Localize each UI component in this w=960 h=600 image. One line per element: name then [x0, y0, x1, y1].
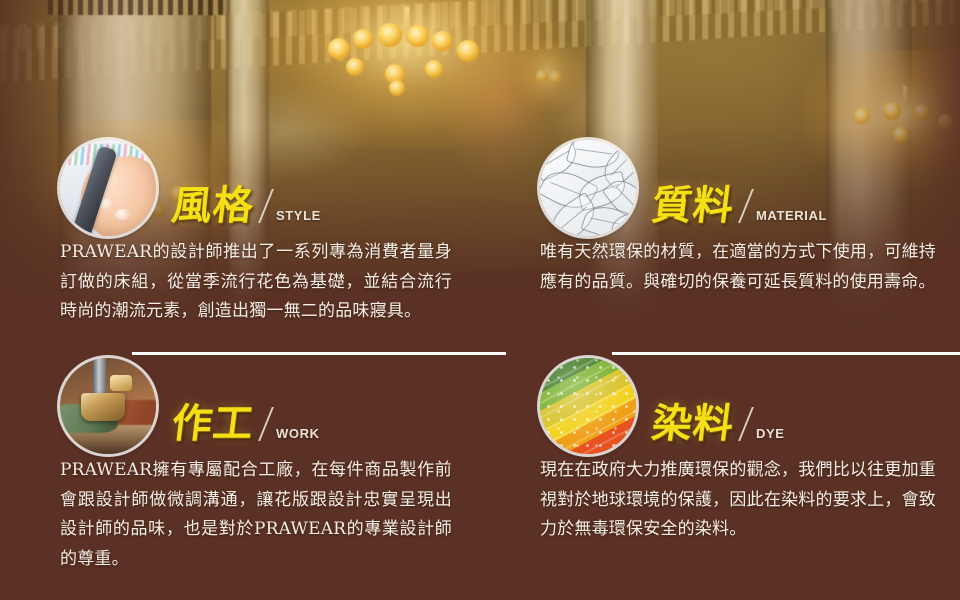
title-slash-divider	[738, 407, 754, 441]
feature-card-dye: 染料 DYE 現在在政府大力推廣環保的觀念，我們比以往更加重視對於地球環境的保護…	[540, 358, 960, 600]
feature-divider	[132, 352, 506, 355]
feature-header: 質料 MATERIAL	[540, 140, 960, 232]
feature-title-en: MATERIAL	[756, 208, 827, 226]
feature-title-lockup: 作工 WORK	[172, 404, 320, 444]
color-dye-stripes-icon[interactable]	[540, 358, 636, 454]
feature-card-material: 質料 MATERIAL 唯有天然環保的材質，在適當的方式下使用，可維持應有的品質…	[540, 140, 960, 358]
feature-title-lockup: 染料 DYE	[652, 404, 785, 444]
sewing-machine-icon[interactable]	[60, 358, 156, 454]
feature-showcase-page: 風格 STYLE PRAWEAR的設計師推出了一系列專為消費者量身訂做的床組，從…	[0, 0, 960, 600]
feature-title-en: DYE	[756, 426, 785, 444]
leaf-print-fabric-icon[interactable]	[540, 140, 636, 236]
feature-body-text: PRAWEAR的設計師推出了一系列專為消費者量身訂做的床組，從當季流行花色為基礎…	[60, 238, 452, 327]
feature-header: 染料 DYE	[540, 358, 960, 450]
title-slash-divider	[258, 189, 274, 223]
feature-card-style: 風格 STYLE PRAWEAR的設計師推出了一系列專為消費者量身訂做的床組，從…	[60, 140, 516, 358]
feature-title-lockup: 風格 STYLE	[172, 186, 321, 226]
title-slash-divider	[258, 407, 274, 441]
feature-body-text: PRAWEAR擁有專屬配合工廠，在每件商品製作前會跟設計師做微調溝通，讓花版跟設…	[60, 456, 452, 574]
feature-body-text: 唯有天然環保的材質，在適當的方式下使用，可維持應有的品質。與確切的保養可延長質料…	[540, 238, 936, 297]
feature-title-cn: 染料	[650, 404, 737, 444]
feature-title-cn: 風格	[170, 186, 257, 226]
title-slash-divider	[738, 189, 754, 223]
feature-divider	[612, 352, 960, 355]
feature-title-en: WORK	[276, 426, 320, 444]
feature-title-en: STYLE	[276, 208, 321, 226]
feature-title-cn: 作工	[170, 404, 257, 444]
feature-title-cn: 質料	[650, 186, 737, 226]
feature-card-work: 作工 WORK PRAWEAR擁有專屬配合工廠，在每件商品製作前會跟設計師做微調…	[60, 358, 516, 600]
feature-header: 作工 WORK	[60, 358, 516, 450]
feature-grid: 風格 STYLE PRAWEAR的設計師推出了一系列專為消費者量身訂做的床組，從…	[0, 0, 960, 600]
feature-header: 風格 STYLE	[60, 140, 516, 232]
hand-with-stylus-icon[interactable]	[60, 140, 156, 236]
feature-title-lockup: 質料 MATERIAL	[652, 186, 827, 226]
feature-body-text: 現在在政府大力推廣環保的觀念，我們比以往更加重視對於地球環境的保護，因此在染料的…	[540, 456, 936, 545]
